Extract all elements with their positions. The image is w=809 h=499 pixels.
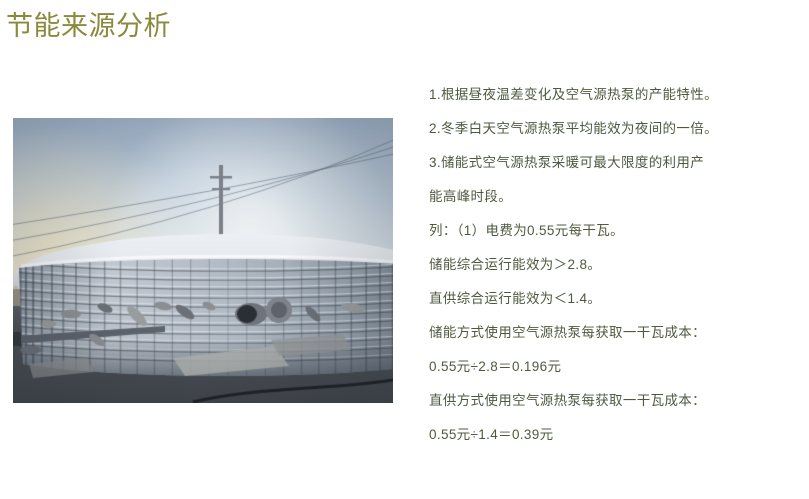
text-line: 储能综合运行能效为＞2.8。	[429, 248, 789, 282]
energy-storage-tank-photo	[13, 118, 393, 403]
text-line: 列：（1）电费为0.55元每干瓦。	[429, 214, 789, 248]
text-line: 储能方式使用空气源热泵每获取一干瓦成本：	[429, 316, 789, 350]
text-line: 1.根据昼夜温差变化及空气源热泵的产能特性。	[429, 78, 789, 112]
photo-canvas	[13, 118, 393, 403]
analysis-text-block: 1.根据昼夜温差变化及空气源热泵的产能特性。 2.冬季白天空气源热泵平均能效为夜…	[429, 78, 789, 452]
text-line: 0.55元÷1.4＝0.39元	[429, 418, 789, 452]
text-line: 能高峰时段。	[429, 180, 789, 214]
page-title: 节能来源分析	[6, 9, 171, 43]
text-line: 直供综合运行能效为＜1.4。	[429, 282, 789, 316]
text-line: 3.储能式空气源热泵采暖可最大限度的利用产	[429, 146, 789, 180]
text-line: 2.冬季白天空气源热泵平均能效为夜间的一倍。	[429, 112, 789, 146]
text-line: 直供方式使用空气源热泵每获取一干瓦成本：	[429, 384, 789, 418]
text-line: 0.55元÷2.8＝0.196元	[429, 350, 789, 384]
